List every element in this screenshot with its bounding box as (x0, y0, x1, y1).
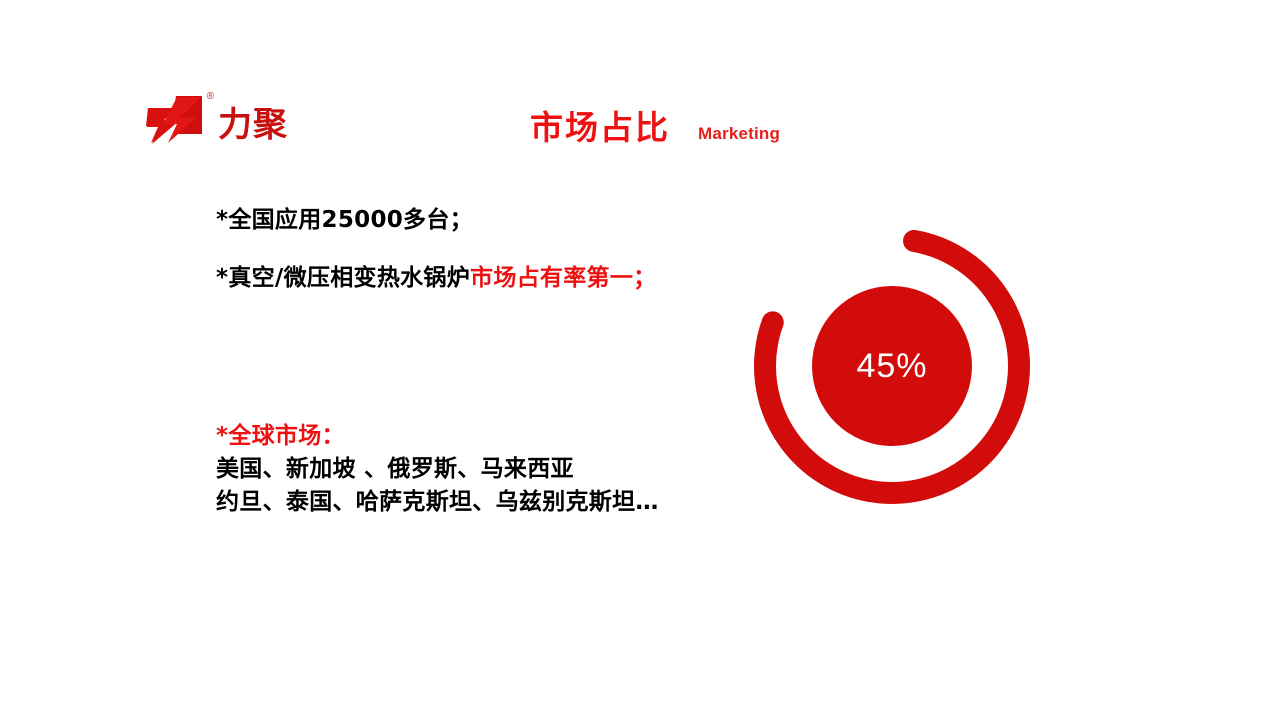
slide-canvas: ® 力聚 市场占比 Marketing *全国应用25000多台； *真空/微压… (0, 0, 1280, 720)
global-market-line-1: 美国、新加坡 、俄罗斯、马来西亚 (216, 453, 816, 486)
bullet-item-2-red: 市场占有率第一； (470, 265, 656, 291)
market-share-donut-chart: 45% (752, 226, 1032, 506)
bullet-item-2: *真空/微压相变热水锅炉市场占有率第一； (194, 263, 736, 295)
bullet-item-1: *全国应用25000多台； (216, 205, 736, 237)
bullet-list: *全国应用25000多台； *真空/微压相变热水锅炉市场占有率第一； (216, 205, 736, 294)
company-logo: ® 力聚 (146, 88, 406, 146)
registered-trademark-icon: ® (207, 92, 214, 102)
global-market-line-2: 约旦、泰国、哈萨克斯坦、乌兹别克斯坦… (216, 486, 816, 519)
donut-inner-circle (812, 286, 972, 446)
bullet-item-2-black: *真空/微压相变热水锅炉 (216, 265, 470, 291)
page-title-zh: 市场占比 (530, 108, 670, 148)
logo-wordmark: 力聚 (218, 108, 288, 146)
global-market-heading: *全球市场： (216, 420, 816, 453)
global-market-block: *全球市场： 美国、新加坡 、俄罗斯、马来西亚 约旦、泰国、哈萨克斯坦、乌兹别克… (216, 420, 816, 519)
lightning-bolt-logo-icon: ® (146, 94, 208, 146)
page-title: 市场占比 Marketing (530, 108, 780, 148)
page-title-en: Marketing (698, 124, 780, 144)
